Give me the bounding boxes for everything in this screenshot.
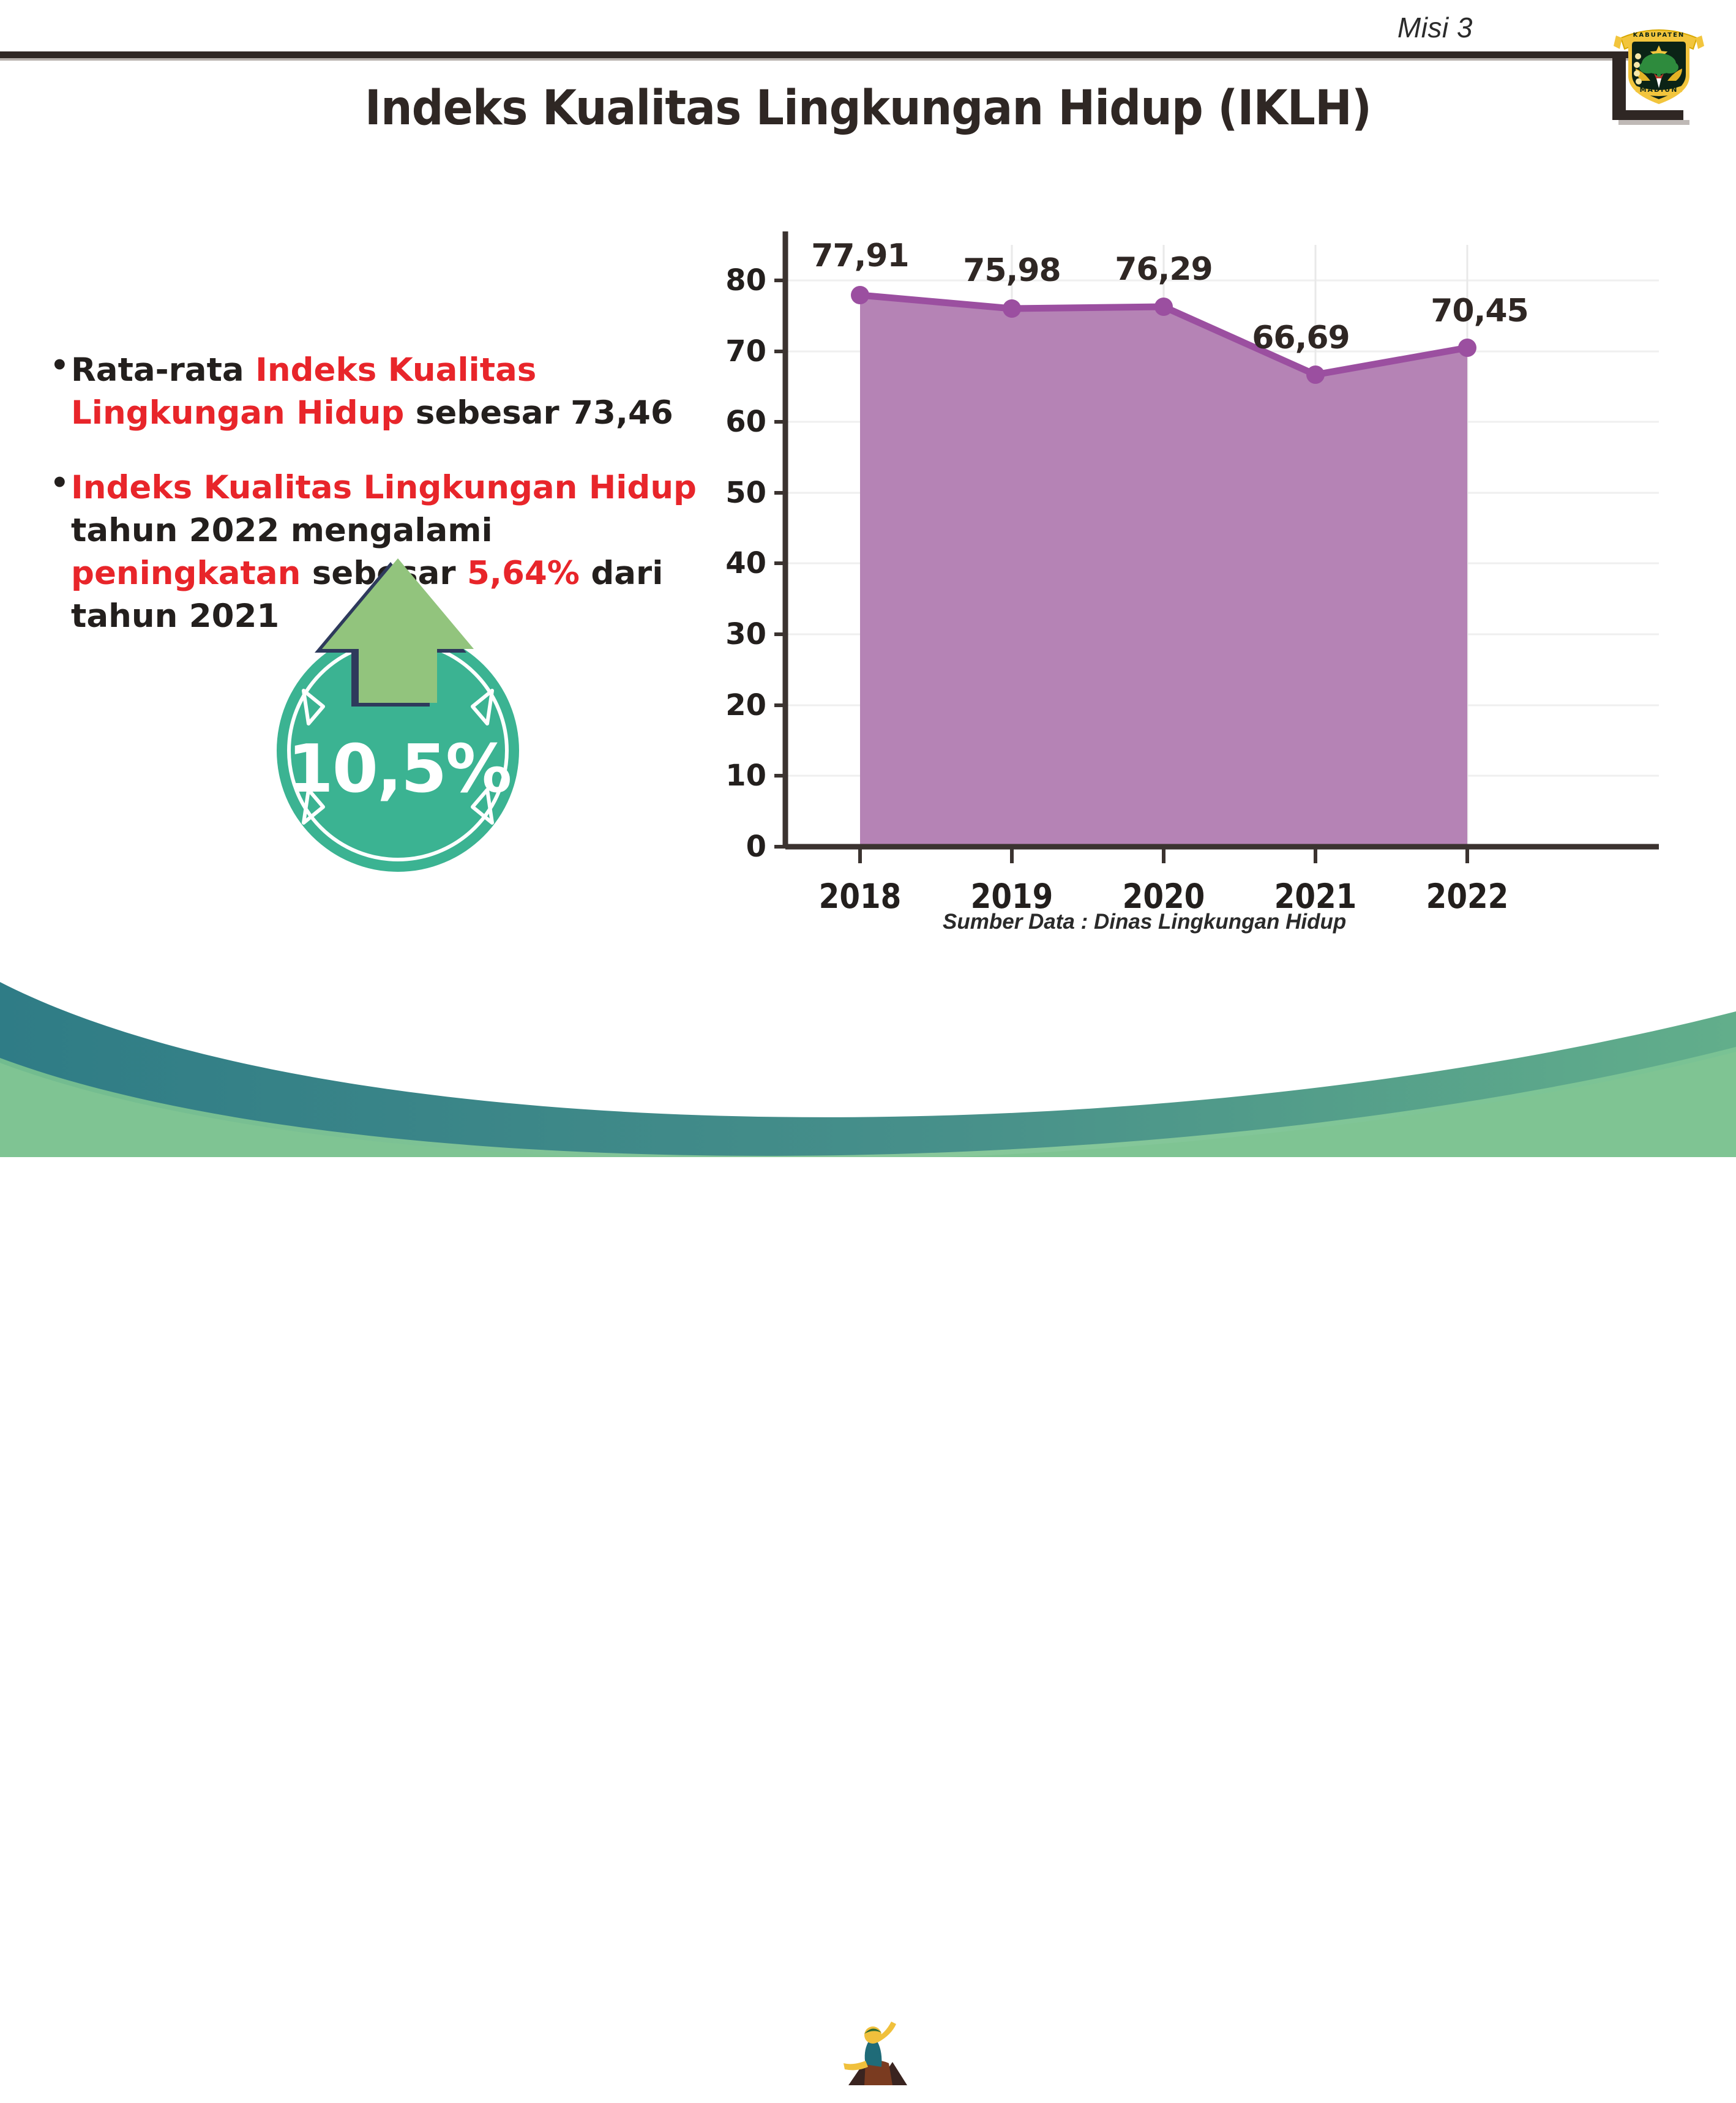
- y-tick-label-0: 0: [699, 830, 766, 864]
- data-label-2020: 76,29: [1093, 251, 1234, 288]
- y-tick-label-80: 80: [699, 263, 766, 298]
- growth-badge: 10,5%: [240, 555, 558, 879]
- y-tick-label-60: 60: [699, 405, 766, 439]
- infographic-slide: Misi 3: [0, 0, 1736, 1157]
- header-rule: [0, 51, 1632, 58]
- x-tick-label-2022: 2022: [1411, 877, 1524, 916]
- y-tick-label-40: 40: [699, 546, 766, 580]
- y-tick-label-20: 20: [699, 688, 766, 722]
- bullet-0-part-2: sebesar 73,46: [404, 394, 673, 432]
- y-tick-label-50: 50: [699, 476, 766, 510]
- misi-label: Misi 3: [1397, 11, 1473, 44]
- header-rule-shadow: [0, 58, 1632, 61]
- bullet-1-part-0: Indeks Kualitas Lingkungan Hidup: [71, 469, 697, 506]
- x-tick-label-2018: 2018: [804, 877, 917, 916]
- data-label-2021: 66,69: [1230, 320, 1371, 356]
- bullet-item-average: Rata-rata Indeks Kualitas Lingkungan Hid…: [50, 349, 705, 435]
- footer-caption: Media Infografis Data Statistik Sektoral…: [900, 2036, 1693, 2071]
- page-title: Indeks Kualitas Lingkungan Hidup (IKLH): [61, 81, 1675, 136]
- data-label-2019: 75,98: [941, 252, 1082, 289]
- y-tick-label-30: 30: [699, 617, 766, 651]
- svg-text:KABUPATEN: KABUPATEN: [1633, 32, 1685, 39]
- footer-band: Media Infografis Data Statistik Sektoral…: [0, 955, 1736, 1157]
- bullet-1-part-1: tahun 2022 mengalami: [71, 512, 493, 549]
- data-label-2018: 77,91: [790, 238, 930, 274]
- iklh-area-chart: 0 10 20 30 40 50 60 70 80 2018 2019 2020…: [722, 208, 1677, 894]
- badge-percent-label: 10,5%: [240, 731, 558, 808]
- bullet-0-part-0: Rata-rata: [71, 351, 255, 389]
- chart-source-note: Sumber Data : Dinas Lingkungan Hidup: [943, 910, 1346, 934]
- y-tick-label-70: 70: [699, 334, 766, 369]
- data-label-2022: 70,45: [1409, 293, 1550, 329]
- y-tick-label-10: 10: [699, 759, 766, 793]
